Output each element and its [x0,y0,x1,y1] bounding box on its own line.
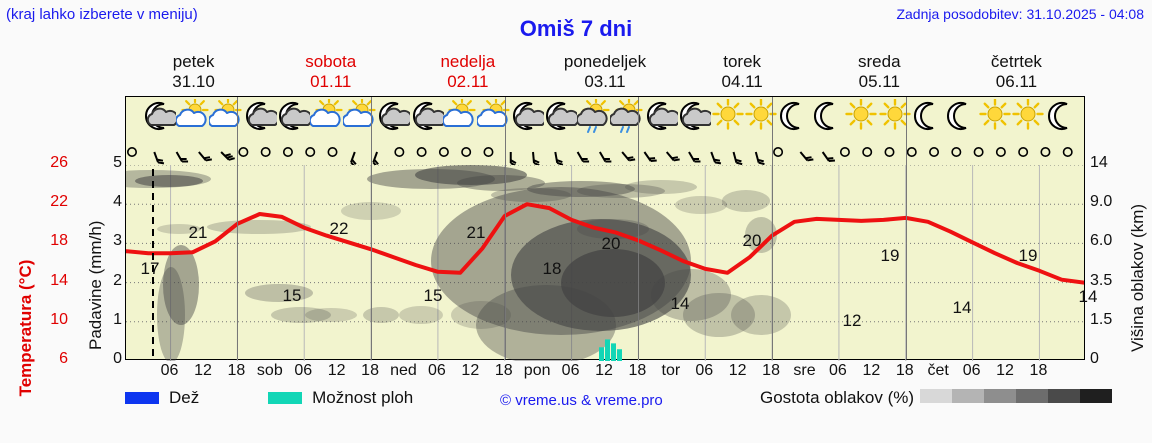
sun-cloud-icon [176,99,210,133]
cloud-height-tick-4: 1.5 [1090,311,1130,329]
day-separator [371,97,372,359]
time-label-16: 06 [695,362,713,380]
day-date: 04.11 [674,72,811,92]
time-label-2: 18 [227,362,245,380]
rain-legend-label: Dež [169,388,199,408]
day-separator [906,97,907,359]
cloud-height-tick-3: 3.5 [1090,272,1130,290]
precipitation-tick-5: 0 [104,350,122,368]
temperature-value-label: 19 [1019,246,1038,266]
temperature-value-label: 12 [843,311,862,331]
wind-barbs [126,139,1084,165]
time-label-8: 06 [428,362,446,380]
day-name: torek [674,52,811,72]
chart-svg [126,165,1084,361]
moon-cloud-icon [677,99,711,133]
cloud-height-tick-2: 6.0 [1090,232,1130,250]
time-label-0: 06 [161,362,179,380]
wind-barb-row [126,139,1084,165]
temperature-value-label: 15 [424,286,443,306]
temperature-value-label: 15 [283,286,302,306]
cloud-density-step-2 [984,389,1016,403]
copyright-link[interactable]: © vreme.us & vreme.pro [500,392,663,409]
cloud-density-step-3 [1016,389,1048,403]
moon-cloud-icon [142,99,176,133]
temperature-value-label: 17 [141,259,160,279]
time-label-7: ned [390,362,417,380]
temperature-tick-5: 6 [28,350,68,368]
temperature-value-label: 21 [467,223,486,243]
day-header-row: petek31.10sobota01.11nedelja02.11ponedel… [125,52,1085,94]
temperature-tick-1: 22 [28,193,68,211]
day-date: 02.11 [399,72,536,92]
showers-bar [605,339,610,361]
day-date: 01.11 [262,72,399,92]
moon-cloud-icon [410,99,444,133]
temperature-value-label: 14 [671,294,690,314]
precipitation-tick-4: 1 [104,311,122,329]
temperature-tick-2: 18 [28,232,68,250]
precipitation-tick-3: 2 [104,272,122,290]
precipitation-tick-1: 4 [104,193,122,211]
time-label-10: 18 [495,362,513,380]
temperature-value-label: 22 [330,219,349,239]
time-label-9: 12 [461,362,479,380]
temperature-value-label: 21 [189,223,208,243]
time-label-25: 12 [996,362,1014,380]
moon-icon [1045,99,1079,133]
time-label-1: 12 [194,362,212,380]
time-label-22: 18 [896,362,914,380]
time-label-24: 06 [963,362,981,380]
cloud-density-step-0 [920,389,952,403]
cloud-density-legend-title: Gostota oblakov (%) [760,388,914,407]
forecast-plot[interactable]: 172115221521182014201219141914 [125,96,1085,360]
time-label-13: 12 [595,362,613,380]
time-label-23: čet [928,362,949,380]
time-label-18: 18 [762,362,780,380]
precipitation-tick-2: 3 [104,232,122,250]
moon-cloud-icon [376,99,410,133]
day-name: sreda [811,52,948,72]
day-header-6: četrtek06.11 [948,52,1085,94]
time-label-17: 12 [729,362,747,380]
time-label-14: 18 [629,362,647,380]
cloud-density-legend: Gostota oblakov (%) 1025507590100 [760,388,1112,408]
temperature-axis-title: Temperatura (°C) [4,168,28,328]
day-separator [505,97,506,359]
moon-icon [944,99,978,133]
time-label-11: pon [524,362,551,380]
temperature-value-label: 20 [602,234,621,254]
moon-cloud-icon [243,99,277,133]
moon-cloud-icon [644,99,678,133]
weather-icon-row [126,97,1084,137]
day-name: ponedeljek [536,52,673,72]
day-name: četrtek [948,52,1085,72]
time-label-21: 12 [862,362,880,380]
showers-bar [617,349,622,361]
moon-icon [811,99,845,133]
moon-cloud-icon [543,99,577,133]
day-header-2: nedelja02.11 [399,52,536,94]
sun-icon [978,99,1012,133]
day-date: 31.10 [125,72,262,92]
day-name: sobota [262,52,399,72]
day-name: nedelja [399,52,536,72]
time-label-15: tor [661,362,680,380]
sun-cloud-icon [310,99,344,133]
temperature-value-label: 19 [881,246,900,266]
day-separator [638,97,639,359]
cloud-height-tick-1: 9.0 [1090,193,1130,211]
time-label-3: sob [257,362,283,380]
sun-icon [844,99,878,133]
day-separator [772,97,773,359]
precipitation-axis-title-label: Padavine (mm/h) [86,221,106,350]
cloud-height-axis-title-label: Višina oblakov (km) [1128,204,1148,352]
temperature-value-label: 14 [953,298,972,318]
moon-icon [911,99,945,133]
day-date: 03.11 [536,72,673,92]
cloud-height-axis-title: Višina oblakov (km) [1128,172,1150,352]
day-header-0: petek31.10 [125,52,262,94]
showers-legend-swatch [268,392,302,404]
cloud-density-step-1 [952,389,984,403]
cloud-density-step-4 [1048,389,1080,403]
showers-bar [611,343,616,361]
sun-cloud-icon [443,99,477,133]
showers-bar [599,347,604,361]
temperature-value-label: 18 [543,259,562,279]
time-axis: 061218sob061218ned061218pon061218tor0612… [125,362,1085,384]
rain-legend-swatch [125,392,159,404]
day-header-5: sreda05.11 [811,52,948,94]
legend: Dež Možnost ploh © vreme.us & vreme.pro … [125,388,1145,434]
time-label-20: 06 [829,362,847,380]
day-date: 06.11 [948,72,1085,92]
temperature-tick-0: 26 [28,154,68,172]
time-label-5: 12 [328,362,346,380]
chart-canvas: 172115221521182014201219141914 [126,165,1084,359]
day-separator [237,97,238,359]
day-date: 05.11 [811,72,948,92]
time-label-19: sre [793,362,815,380]
time-label-6: 18 [361,362,379,380]
day-name: petek [125,52,262,72]
cloud-density-colorbar [920,389,1112,408]
temperature-tick-4: 10 [28,311,68,329]
moon-cloud-icon [510,99,544,133]
day-header-4: torek04.11 [674,52,811,94]
temperature-tick-3: 14 [28,272,68,290]
precipitation-tick-0: 5 [104,154,122,172]
temperature-value-label: 20 [743,231,762,251]
day-header-1: sobota01.11 [262,52,399,94]
cloud-height-tick-5: 0 [1090,350,1130,368]
time-label-12: 06 [562,362,580,380]
day-header-3: ponedeljek03.11 [536,52,673,94]
moon-icon [777,99,811,133]
time-label-26: 18 [1030,362,1048,380]
moon-cloud-icon [276,99,310,133]
sun-icon [711,99,745,133]
time-label-4: 06 [294,362,312,380]
sun-icon [1011,99,1045,133]
sun-cloud-rain-icon [577,99,611,133]
cloud-height-tick-0: 14 [1090,154,1130,172]
showers-legend-label: Možnost ploh [312,388,413,408]
